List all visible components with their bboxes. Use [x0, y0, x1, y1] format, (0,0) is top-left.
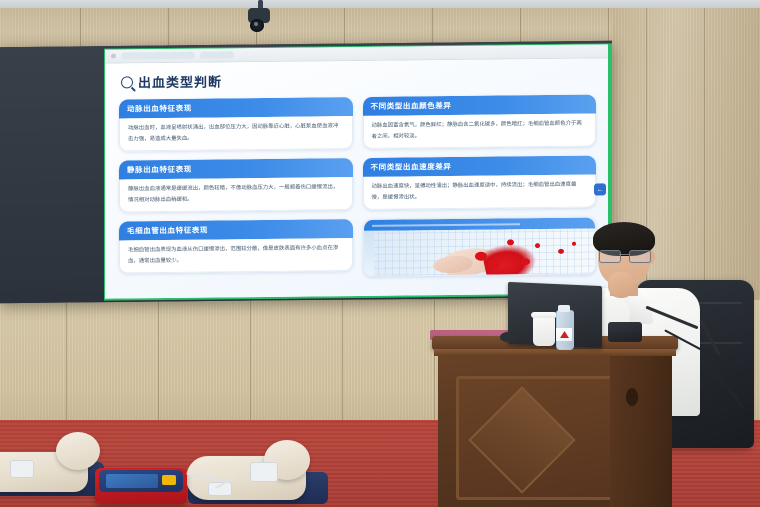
presenter-hand — [608, 272, 634, 298]
projected-slide: 出血类型判断 动脉出血特征表现 动脉出血时，血液呈喷射状涌出，出血部位压力大，因… — [105, 44, 608, 298]
podium-handle-cutout — [626, 388, 638, 406]
card-speed-difference: 不同类型出血速度差异 动脉出血速度快，呈搏动性涌出；静脉出血速度适中，持续流出；… — [363, 156, 597, 211]
card-capillary-body: 毛细血管出血表现为血液从伤口缓慢渗出，范围较分散，像是皮肤表面有许多小血点在渗血… — [119, 238, 353, 274]
toolbar-field-left[interactable] — [121, 52, 195, 60]
card-arterial-heading: 动脉出血特征表现 — [119, 97, 353, 118]
card-speed-difference-body: 动脉出血速度快，呈搏动性涌出；静脉出血速度适中，持续流出；毛细血管出血速度最慢，… — [363, 175, 597, 211]
card-color-difference: 不同类型出血颜色差异 动脉血因富含氧气，颜色鲜红；静脉血含二氧化碳多，颜色暗红；… — [363, 94, 597, 149]
podium-edge-molding — [434, 349, 676, 356]
microphone-base[interactable] — [608, 322, 642, 342]
card-arterial: 动脉出血特征表现 动脉出血时，血液呈喷射状涌出，出血部位压力大，因动脉靠近心脏，… — [119, 97, 353, 152]
card-capillary-heading: 毛细血管出血特征表现 — [119, 219, 353, 240]
tea-cup — [533, 316, 555, 346]
card-arterial-body: 动脉出血时，血液呈喷射状涌出，出血部位压力大，因动脉靠近心脏，心脏泵血使血液冲击… — [119, 116, 353, 152]
magnifier-icon — [121, 76, 133, 88]
slide-back-button[interactable]: ← — [594, 184, 606, 196]
card-venous: 静脉出血特征表现 静脉出血血液通常是缓缓流出，颜色较暗，不像动脉血压力大，一般顺… — [119, 158, 353, 213]
card-capillary: 毛细血管出血特征表现 毛细血管出血表现为血液从伤口缓慢渗出，范围较分散，像是皮肤… — [119, 219, 353, 274]
slide-title: 出血类型判断 — [138, 71, 222, 91]
aed-display-panel — [106, 474, 158, 488]
aed-shock-button[interactable] — [162, 475, 176, 485]
slide-title-row: 出血类型判断 — [121, 67, 596, 91]
slide-body: 出血类型判断 动脉出血特征表现 动脉出血时，血液呈喷射状涌出，出血部位压力大，因… — [105, 58, 608, 298]
slide-columns: 动脉出血特征表现 动脉出血时，血液呈喷射状涌出，出血部位压力大，因动脉靠近心脏，… — [119, 94, 596, 279]
computer-mouse[interactable] — [500, 332, 516, 342]
card-color-difference-heading: 不同类型出血颜色差异 — [363, 94, 597, 115]
tea-cup-lid — [531, 312, 557, 318]
lecture-hall-scene: 出血类型判断 动脉出血特征表现 动脉出血时，血液呈喷射状涌出，出血部位压力大，因… — [0, 0, 760, 507]
card-speed-difference-heading: 不同类型出血速度差异 — [363, 156, 597, 177]
podium-side-panel — [610, 344, 672, 507]
toolbar-dot-icon — [111, 54, 116, 59]
card-color-difference-body: 动脉血因富含氧气，颜色鲜红；静脉血含二氧化碳多，颜色暗红；毛细血管血颜色介于两者… — [363, 113, 597, 149]
toolbar-field-right[interactable] — [200, 51, 234, 58]
left-column: 动脉出血特征表现 动脉出血时，血液呈喷射状涌出，出血部位压力大，因动脉靠近心脏，… — [119, 97, 353, 280]
camera-glint — [254, 22, 258, 26]
eyeglasses-icon — [599, 250, 651, 261]
water-bottle-cap — [558, 305, 570, 312]
card-venous-body: 静脉出血血液通常是缓缓流出，颜色较暗，不像动脉血压力大，一般顺着伤口缓慢流出，情… — [119, 177, 353, 213]
card-venous-heading: 静脉出血特征表现 — [119, 158, 353, 179]
